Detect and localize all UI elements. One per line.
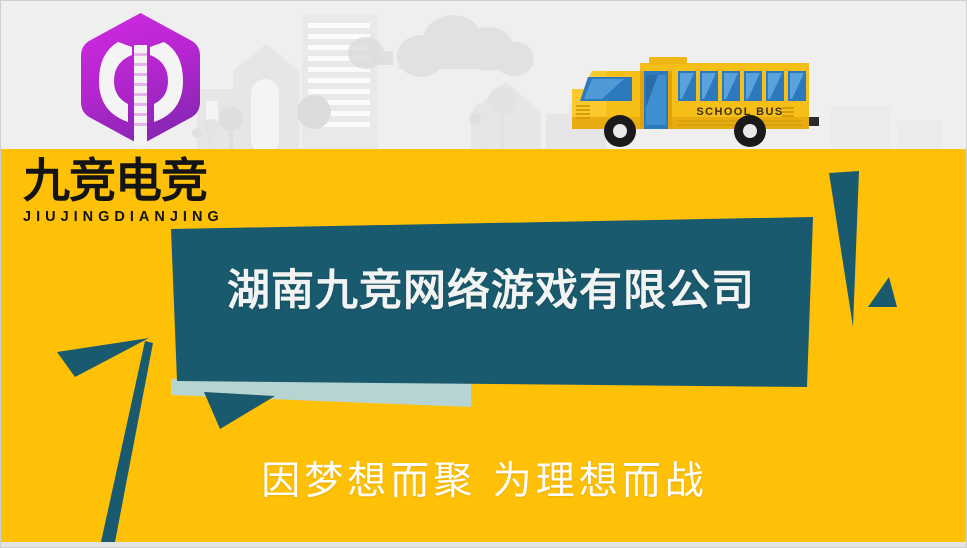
tagline: 因梦想而聚 为理想而战: [1, 456, 967, 508]
ribbon-arrow: [204, 392, 275, 429]
slide-canvas: SCHOOL BUS: [0, 0, 967, 548]
cloud-shape: [397, 15, 534, 77]
wordmark-pinyin: JIUJINGDIANJING: [23, 209, 273, 225]
wordmark-chinese: 九竞电竞: [23, 157, 273, 207]
jiujing-hexagon-logo: [74, 9, 207, 149]
school-bus-label: SCHOOL BUS: [696, 106, 783, 118]
right-arrow-decor: [868, 277, 897, 307]
left-arrow-decor: [57, 338, 149, 377]
school-bus-icon: SCHOOL BUS: [554, 45, 822, 150]
brand-wordmark: 九竞电竞 JIUJINGDIANJING: [23, 157, 273, 225]
page-title: 湖南九竞网络游戏有限公司: [171, 263, 811, 319]
right-blade-decor: [829, 171, 859, 327]
left-blade-decor: [101, 341, 153, 542]
bottom-frame-strip: [1, 542, 967, 548]
